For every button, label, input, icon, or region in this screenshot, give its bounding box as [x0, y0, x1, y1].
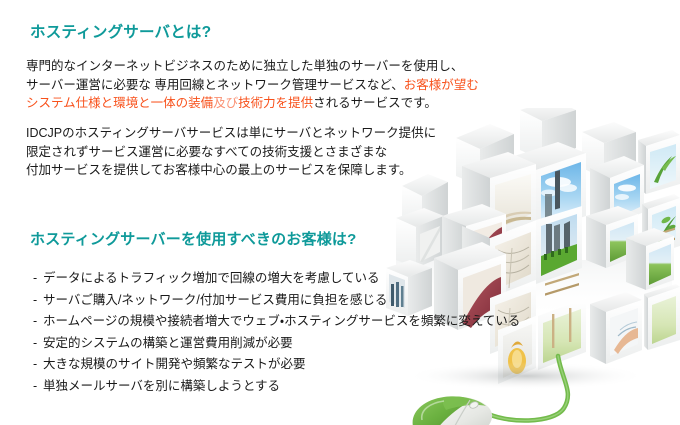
bullet-marker: -	[33, 268, 43, 290]
bullet-marker: -	[33, 376, 43, 398]
bullet-marker: -	[33, 333, 43, 355]
list-item: -安定的システムの構築と運営費用削減が必要	[33, 333, 520, 355]
list-item-label: 大きな規模のサイト開発や頻繁なテストが必要	[43, 357, 306, 371]
bullet-marker: -	[33, 354, 43, 376]
text-run: 専門的なインターネットビジネスのために独立した単独のサーバーを使用し、	[26, 59, 463, 73]
paragraph-idcjp-line-1: IDCJPのホスティングサーバサービスは単にサーバとネットワーク提供に	[26, 124, 436, 143]
cube-plain-right	[626, 228, 674, 290]
list-item: -サーバご購入/ネットワーク/付加サービス費用に負担を感じる	[33, 290, 520, 312]
text-run-accent: システム仕様と環境と一体の装備	[26, 96, 213, 110]
text-run: IDCJPのホスティングサーバサービスは単にサーバとネットワーク提供に	[26, 126, 436, 140]
text-column: ホスティングサーバとは? 専門的なインターネットビジネスのために独立した単独のサ…	[0, 0, 470, 425]
list-item: -単独メールサーバを別に構築しようとする	[33, 376, 520, 398]
paragraph-idcjp: IDCJPのホスティングサーバサービスは単にサーバとネットワーク提供に 限定され…	[26, 124, 436, 180]
list-item: -データによるトラフィック増加で回線の増大を考慮している	[33, 268, 520, 290]
text-run-accent: お客様が望む	[404, 78, 479, 92]
paragraph-intro-line-3: システム仕様と環境と一体の装備及び技術力を提供されるサービスです。	[26, 94, 479, 113]
text-run-accent: 技術力を提供	[238, 96, 313, 110]
section-title-who-should-use: ホスティングサーバーを使用すべきのお客様は?	[30, 228, 356, 249]
text-run: 限定されずサービス運営に必要なすべての技術支援とさまざまな	[26, 145, 387, 159]
text-run: されるサービスです。	[313, 96, 437, 110]
list-item-label: 単独メールサーバを別に構築しようとする	[43, 379, 280, 393]
paragraph-intro-line-2: サーバー運営に必要な 専用回線とネットワーク管理サービスなど、お客様が望む	[26, 76, 479, 95]
bullet-marker: -	[33, 311, 43, 333]
list-item-label: データによるトラフィック増加で回線の増大を考慮している	[43, 271, 380, 285]
paragraph-intro: 専門的なインターネットビジネスのために独立した単独のサーバーを使用し、 サーバー…	[26, 57, 479, 113]
cube-photo-hand	[590, 292, 642, 364]
list-item-label: 安定的システムの構築と運営費用削減が必要	[43, 336, 293, 350]
page-root: ホスティングサーバとは? 専門的なインターネットビジネスのために独立した単独のサ…	[0, 0, 680, 425]
customer-benefit-list: -データによるトラフィック増加で回線の増大を考慮している -サーバご購入/ネット…	[33, 268, 520, 397]
bullet-marker: -	[33, 290, 43, 312]
list-item-label: サーバご購入/ネットワーク/付加サービス費用に負担を感じる	[43, 293, 387, 307]
cube-photo-leaf-top	[638, 130, 680, 194]
text-run: 付加サービスを提供してお客様中心の最上のサービスを保障します。	[26, 163, 412, 177]
section-title-what-is-hosting-server: ホスティングサーバとは?	[30, 20, 211, 42]
list-item-label: ホームページの規模や接続者増大でウェブ・ホスティングサービスを頻繁に変えている	[43, 314, 520, 328]
paragraph-idcjp-line-3: 付加サービスを提供してお客様中心の最上のサービスを保障します。	[26, 161, 436, 180]
list-item: -ホームページの規模や接続者増大でウェブ・ホスティングサービスを頻繁に変えている	[33, 311, 520, 333]
paragraph-intro-line-1: 専門的なインターネットビジネスのために独立した単独のサーバーを使用し、	[26, 57, 479, 76]
list-item: -大きな規模のサイト開発や頻繁なテストが必要	[33, 354, 520, 376]
paragraph-idcjp-line-2: 限定されずサービス運営に必要なすべての技術支援とさまざまな	[26, 143, 436, 162]
text-run-accent-soft: 及び	[213, 96, 238, 110]
text-run: サーバー運営に必要な 専用回線とネットワーク管理サービスなど、	[26, 78, 404, 92]
